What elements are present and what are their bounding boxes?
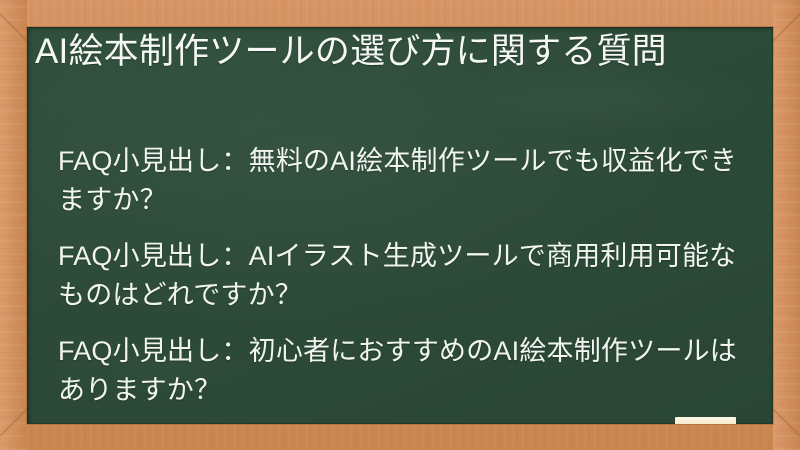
chalkboard-surface: AI絵本制作ツールの選び方に関する質問 FAQ小見出し：無料のAI絵本制作ツール… bbox=[27, 27, 773, 424]
list-item: FAQ小見出し：無料のAI絵本制作ツールでも収益化できますか？ bbox=[58, 142, 746, 220]
chalkboard-slide: AI絵本制作ツールの選び方に関する質問 FAQ小見出し：無料のAI絵本制作ツール… bbox=[0, 0, 800, 450]
page-title: AI絵本制作ツールの選び方に関する質問 bbox=[35, 29, 741, 75]
frame-left-stile bbox=[0, 0, 27, 450]
list-item: FAQ小見出し：初心者におすすめのAI絵本制作ツールはありますか？ bbox=[58, 332, 746, 410]
list-item: FAQ小見出し：AIイラスト生成ツールで商用利用可能なものはどれですか？ bbox=[58, 237, 746, 315]
frame-right-stile bbox=[773, 0, 800, 450]
faq-list: FAQ小見出し：無料のAI絵本制作ツールでも収益化できますか？ FAQ小見出し：… bbox=[58, 142, 746, 410]
chalk-stick-icon bbox=[675, 417, 736, 424]
